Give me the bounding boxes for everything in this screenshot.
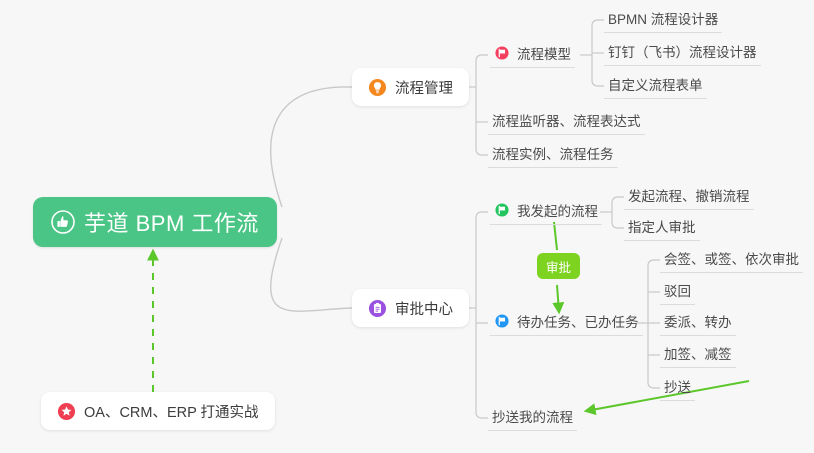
node-custom-process-form[interactable]: 自定义流程表单	[604, 73, 707, 99]
node-process-model[interactable]: 流程模型	[490, 42, 575, 68]
flag-blue-icon	[494, 313, 510, 329]
connector-approval-center-trunk	[476, 212, 488, 418]
clipboard-icon	[368, 299, 387, 318]
node-instance-task[interactable]: 流程实例、流程任务	[488, 142, 618, 168]
branch-node-approval-center[interactable]: 审批中心	[352, 289, 469, 327]
node-delegate-transfer[interactable]: 委派、转办	[660, 310, 736, 336]
node-label-countersign: 会签、或签、依次审批	[664, 248, 799, 268]
node-label-start-cancel: 发起流程、撤销流程	[628, 185, 750, 205]
branch-label-process-management: 流程管理	[395, 77, 453, 98]
floating-note-label: OA、CRM、ERP 打通实战	[84, 401, 259, 422]
node-assignee-approval[interactable]: 指定人审批	[624, 215, 700, 241]
node-countersign[interactable]: 会签、或签、依次审批	[660, 247, 803, 273]
flag-green-icon	[494, 202, 510, 218]
connector-root-to-process-management	[271, 87, 352, 207]
node-label-listener-expression: 流程监听器、流程表达式	[492, 110, 641, 130]
node-cc-to-me[interactable]: 抄送我的流程	[488, 405, 577, 431]
annotation-arrow-initiated-to-chip	[554, 222, 557, 250]
root-node[interactable]: 芋道 BPM 工作流	[33, 197, 277, 247]
node-label-add-remove-sign: 加签、减签	[664, 343, 732, 363]
node-todo-done[interactable]: 待办任务、已办任务	[490, 310, 643, 336]
root-label: 芋道 BPM 工作流	[84, 206, 259, 238]
node-label-custom-process-form: 自定义流程表单	[608, 74, 703, 94]
node-label-cc: 抄送	[664, 376, 691, 396]
connector-todo-done-trunk	[648, 260, 660, 388]
thumbs-up-icon	[51, 210, 75, 234]
node-reject[interactable]: 驳回	[660, 279, 695, 305]
node-label-process-model: 流程模型	[517, 43, 571, 63]
node-label-my-initiated: 我发起的流程	[517, 200, 598, 220]
node-dingtalk-feishu-designer[interactable]: 钉钉（飞书）流程设计器	[604, 40, 761, 66]
node-label-dingtalk-feishu-designer: 钉钉（飞书）流程设计器	[608, 41, 757, 61]
node-add-remove-sign[interactable]: 加签、减签	[660, 342, 736, 368]
annotation-arrow-chip-to-todo	[557, 285, 559, 312]
star-icon	[57, 402, 76, 421]
node-start-cancel[interactable]: 发起流程、撤销流程	[624, 184, 754, 210]
node-label-delegate-transfer: 委派、转办	[664, 311, 732, 331]
node-label-instance-task: 流程实例、流程任务	[492, 143, 614, 163]
node-label-cc-to-me: 抄送我的流程	[492, 406, 573, 426]
node-my-initiated[interactable]: 我发起的流程	[490, 199, 602, 225]
annotation-chip-approval[interactable]: 审批	[537, 253, 580, 279]
lightbulb-icon	[368, 78, 387, 97]
node-bpmn-designer[interactable]: BPMN 流程设计器	[604, 7, 722, 33]
node-cc[interactable]: 抄送	[660, 375, 695, 401]
connector-root-to-approval-center	[271, 238, 352, 311]
floating-note-node[interactable]: OA、CRM、ERP 打通实战	[41, 392, 275, 430]
node-label-reject: 驳回	[664, 280, 691, 300]
node-label-assignee-approval: 指定人审批	[628, 216, 696, 236]
branch-node-process-management[interactable]: 流程管理	[352, 68, 469, 106]
flag-red-icon	[494, 45, 510, 61]
node-listener-expression[interactable]: 流程监听器、流程表达式	[488, 109, 645, 135]
mindmap-canvas: 芋道 BPM 工作流 OA、CRM、ERP 打通实战 流程管理	[0, 0, 814, 453]
annotation-chip-approval-label: 审批	[546, 257, 571, 276]
node-label-todo-done: 待办任务、已办任务	[517, 311, 639, 331]
connector-process-management-trunk	[476, 55, 488, 155]
connector-process-model-trunk	[592, 20, 604, 86]
branch-label-approval-center: 审批中心	[395, 298, 453, 319]
node-label-bpmn-designer: BPMN 流程设计器	[608, 8, 718, 28]
connector-my-initiated-trunk	[612, 197, 624, 228]
